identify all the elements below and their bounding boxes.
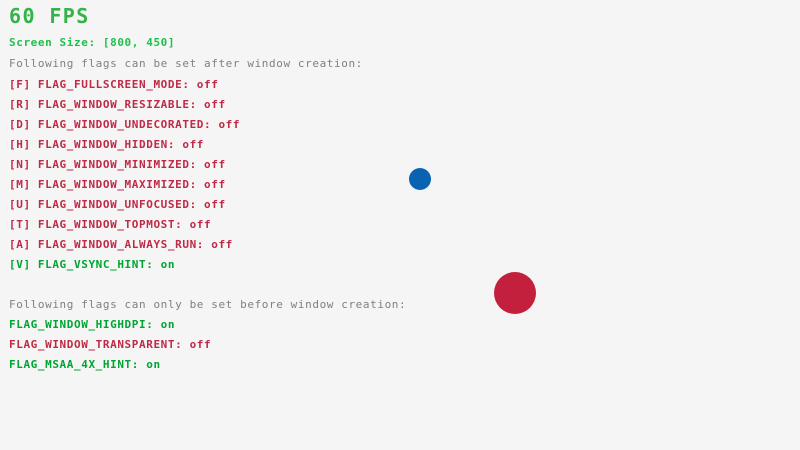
flag-row-flag-msaa-4x-hint[interactable]: FLAG_MSAA_4X_HINT: on (9, 359, 161, 371)
flag-row-flag-window-hidden[interactable]: [H] FLAG_WINDOW_HIDDEN: off (9, 139, 204, 151)
flag-row-flag-window-highdpi[interactable]: FLAG_WINDOW_HIGHDPI: on (9, 319, 175, 331)
small-blue-ball (409, 168, 431, 190)
screen-size-label: Screen Size: [800, 450] (9, 37, 175, 49)
before-creation-note: Following flags can only be set before w… (9, 299, 406, 311)
large-red-ball (494, 272, 536, 314)
flag-row-flag-fullscreen-mode[interactable]: [F] FLAG_FULLSCREEN_MODE: off (9, 79, 218, 91)
flag-row-flag-window-maximized[interactable]: [M] FLAG_WINDOW_MAXIMIZED: off (9, 179, 226, 191)
flag-row-flag-window-topmost[interactable]: [T] FLAG_WINDOW_TOPMOST: off (9, 219, 211, 231)
fps-counter: 60 FPS (9, 6, 90, 26)
flag-row-flag-window-minimized[interactable]: [N] FLAG_WINDOW_MINIMIZED: off (9, 159, 226, 171)
flag-row-flag-window-unfocused[interactable]: [U] FLAG_WINDOW_UNFOCUSED: off (9, 199, 226, 211)
flag-row-flag-vsync-hint[interactable]: [V] FLAG_VSYNC_HINT: on (9, 259, 175, 271)
raylib-canvas[interactable]: 60 FPS Screen Size: [800, 450] Following… (0, 0, 800, 450)
flag-row-flag-window-resizable[interactable]: [R] FLAG_WINDOW_RESIZABLE: off (9, 99, 226, 111)
flag-row-flag-window-undecorated[interactable]: [D] FLAG_WINDOW_UNDECORATED: off (9, 119, 240, 131)
flag-row-flag-window-always-run[interactable]: [A] FLAG_WINDOW_ALWAYS_RUN: off (9, 239, 233, 251)
after-creation-note: Following flags can be set after window … (9, 58, 363, 70)
flag-row-flag-window-transparent[interactable]: FLAG_WINDOW_TRANSPARENT: off (9, 339, 211, 351)
